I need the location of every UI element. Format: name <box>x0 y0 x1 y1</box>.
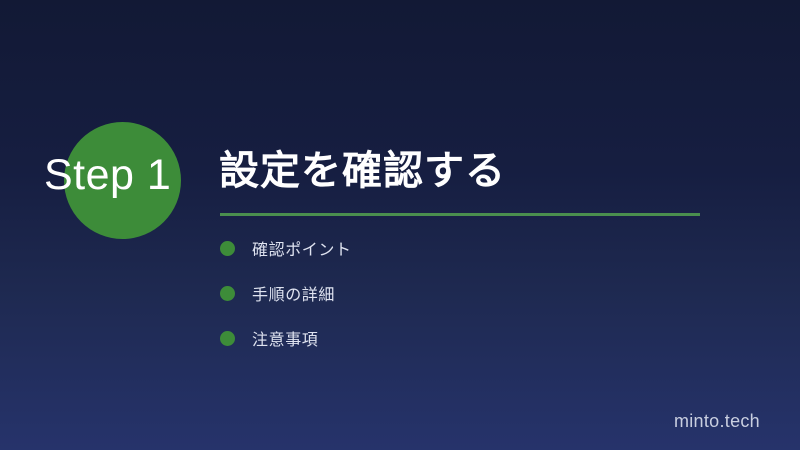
title-divider <box>220 213 700 216</box>
list-item-label: 注意事項 <box>252 326 318 350</box>
bullet-dot-icon <box>220 286 235 301</box>
step-badge-label: Step 1 <box>44 151 171 199</box>
bullet-dot-icon <box>220 331 235 346</box>
bullet-list: 確認ポイント 手順の詳細 注意事項 <box>220 233 700 368</box>
slide-canvas: Step 1 設定を確認する 確認ポイント 手順の詳細 注意事項 minto.t… <box>0 0 800 450</box>
bullet-dot-icon <box>220 241 235 256</box>
list-item-label: 手順の詳細 <box>252 281 335 305</box>
list-item: 注意事項 <box>220 323 700 353</box>
page-title: 設定を確認する <box>219 146 506 196</box>
list-item: 確認ポイント <box>220 233 700 263</box>
list-item-label: 確認ポイント <box>252 236 352 260</box>
watermark: minto.tech <box>674 411 760 432</box>
list-item: 手順の詳細 <box>220 278 700 308</box>
